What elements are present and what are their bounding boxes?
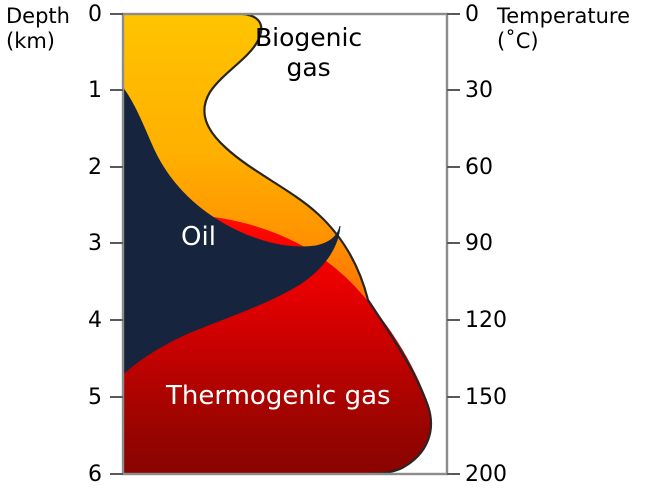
depth-tick-label-1: 1 [62, 78, 102, 103]
temperature-tick-label-0: 0 [465, 2, 479, 27]
depth-axis-title-unit: (km) [6, 29, 70, 54]
temperature-tick-label-60: 60 [465, 155, 493, 180]
temperature-axis-title-unit: (˚C) [497, 29, 630, 54]
temperature-tick-label-200: 200 [465, 462, 507, 487]
depth-tick-label-4: 4 [62, 308, 102, 333]
depth-tick-label-3: 3 [62, 231, 102, 256]
depth-axis-ticks [110, 14, 123, 474]
depth-axis-title-line1: Depth [6, 4, 70, 29]
temperature-axis-title-line1: Temperature [497, 4, 630, 29]
temperature-axis-ticks [447, 14, 460, 474]
zone-label-biogenic-gas-line1: Biogenic [255, 23, 362, 53]
temperature-tick-label-150: 150 [465, 385, 507, 410]
depth-axis-title: Depth (km) [6, 4, 70, 54]
temperature-tick-label-120: 120 [465, 308, 507, 333]
temperature-tick-label-30: 30 [465, 78, 493, 103]
zone-label-oil: Oil [181, 222, 216, 252]
temperature-axis-title: Temperature (˚C) [497, 4, 630, 54]
depth-tick-label-6: 6 [62, 462, 102, 487]
depth-tick-label-2: 2 [62, 155, 102, 180]
temperature-tick-label-90: 90 [465, 231, 493, 256]
zone-label-biogenic-gas: Biogenic gas [255, 23, 362, 83]
depth-tick-label-5: 5 [62, 385, 102, 410]
depth-tick-label-0: 0 [62, 2, 102, 27]
zone-label-biogenic-gas-line2: gas [255, 53, 362, 83]
zone-label-thermogenic-gas: Thermogenic gas [166, 381, 391, 411]
